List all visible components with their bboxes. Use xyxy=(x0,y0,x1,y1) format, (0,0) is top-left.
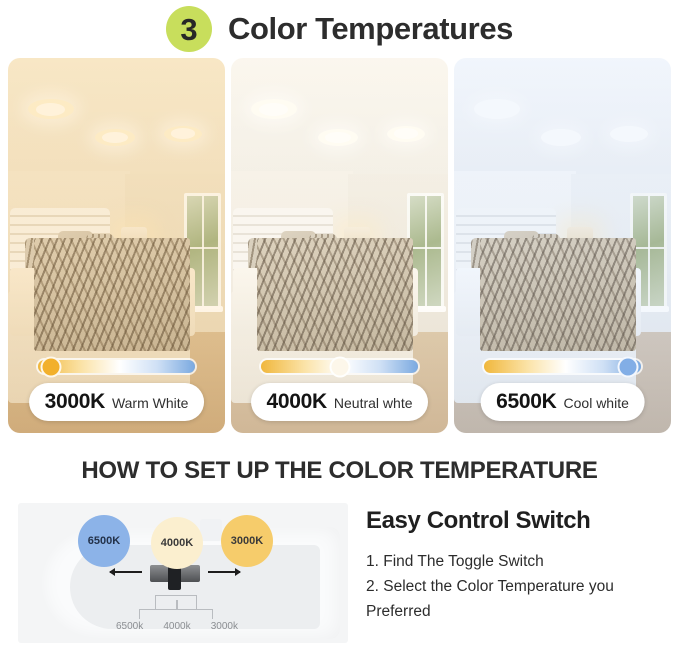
bedroom-scene-warm xyxy=(8,58,225,433)
count-badge: 3 xyxy=(166,6,212,52)
bubble-6500k: 6500K xyxy=(78,515,130,567)
kelvin-value: 6500K xyxy=(496,390,556,414)
arrow-right-icon xyxy=(208,571,240,573)
panel-6500k[interactable]: 6500K Cool white xyxy=(454,58,671,433)
ceiling xyxy=(8,58,225,186)
slider-knob[interactable] xyxy=(40,356,61,377)
instruction-step-1: 1. Find The Toggle Switch xyxy=(366,549,614,574)
bed-throw xyxy=(480,238,636,351)
header: 3 Color Temperatures xyxy=(0,0,679,58)
slider-track[interactable] xyxy=(484,360,640,373)
slider-knob[interactable] xyxy=(618,356,639,377)
instructions-title: Easy Control Switch xyxy=(366,507,614,535)
bed-throw xyxy=(257,238,413,351)
label-pill-3000k: 3000K Warm White xyxy=(29,383,205,421)
instructions: Easy Control Switch 1. Find The Toggle S… xyxy=(366,503,614,643)
kelvin-name: Neutral whte xyxy=(334,395,413,411)
temperature-slider-4000k[interactable] xyxy=(261,360,417,375)
panel-4000k[interactable]: 4000K Neutral whte xyxy=(231,58,448,433)
switch-label-4000k: 4000k xyxy=(163,621,190,632)
temperature-slider-6500k[interactable] xyxy=(484,360,640,375)
ceiling xyxy=(231,58,448,186)
ceiling-light xyxy=(474,99,520,119)
ceiling-light xyxy=(610,126,648,142)
slider-track[interactable] xyxy=(261,360,417,373)
bubble-4000k: 4000K xyxy=(151,517,203,569)
temperature-slider-3000k[interactable] xyxy=(38,360,194,375)
kelvin-name: Cool white xyxy=(564,395,629,411)
switch-position-labels: 6500k 4000k 3000k xyxy=(116,621,238,632)
ceiling xyxy=(454,58,671,186)
setup-section-title: HOW TO SET UP THE COLOR TEMPERATURE xyxy=(0,457,679,485)
kelvin-value: 3000K xyxy=(45,390,105,414)
label-pill-4000k: 4000K Neutral whte xyxy=(251,383,429,421)
page-title: Color Temperatures xyxy=(228,11,513,47)
arrow-left-icon xyxy=(110,571,142,573)
setup-section: 6500K 4000K 3000K 6500k 4000k 3000k Easy… xyxy=(0,485,679,643)
bed-throw xyxy=(34,238,190,351)
ceiling-light xyxy=(387,126,425,142)
switch-label-6500k: 6500k xyxy=(116,621,143,632)
switch-label-3000k: 3000k xyxy=(211,621,238,632)
panel-3000k[interactable]: 3000K Warm White xyxy=(8,58,225,433)
label-pill-6500k: 6500K Cool white xyxy=(480,383,645,421)
color-temperature-panels: 3000K Warm White xyxy=(0,58,679,433)
kelvin-name: Warm White xyxy=(112,395,188,411)
kelvin-value: 4000K xyxy=(267,390,327,414)
bedroom-scene-cool xyxy=(454,58,671,433)
instruction-step-2-cont: Preferred xyxy=(366,599,614,624)
ceiling-light xyxy=(28,99,74,119)
slider-track[interactable] xyxy=(38,360,194,373)
bubble-3000k: 3000K xyxy=(221,515,273,567)
fixture-nub xyxy=(200,519,222,541)
slider-knob[interactable] xyxy=(329,356,350,377)
ceiling-light xyxy=(164,126,202,142)
toggle-switch-diagram: 6500K 4000K 3000K 6500k 4000k 3000k xyxy=(18,503,348,643)
ceiling-light xyxy=(251,99,297,119)
bracket-lower xyxy=(139,609,213,619)
instruction-step-2: 2. Select the Color Temperature you xyxy=(366,574,614,599)
